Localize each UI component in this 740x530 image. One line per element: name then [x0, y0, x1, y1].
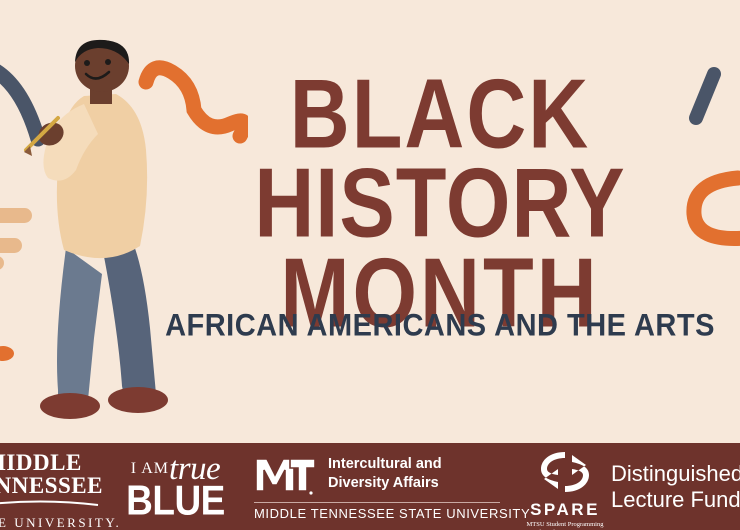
spare-logo: SPARE MTSU Student Programming and Raide… [519, 449, 611, 530]
headline-block: BLACK HISTORY MONTH [160, 72, 720, 322]
mtsu-line-state-university: STATE UNIVERSITY. [0, 515, 108, 530]
dlf-line-1: Distinguished [611, 461, 740, 487]
headline-line-black: BLACK [160, 72, 720, 156]
headline-line-history: HISTORY [160, 161, 720, 245]
spare-arrows-icon [538, 449, 592, 495]
i-am-true-blue-logo: I AMtrue BLUE [118, 453, 233, 518]
dlf-line-2: Lecture Fund [611, 487, 740, 513]
ida-university-name: MIDDLE TENNESSEE STATE UNIVERSITY [254, 506, 504, 521]
mtsu-line-tennessee: TENNESSEE [0, 474, 108, 497]
intercultural-diversity-affairs-logo: Intercultural and Diversity Affairs MIDD… [254, 451, 504, 521]
mt-block-icon [254, 451, 316, 497]
mtsu-line-middle: MIDDLE [0, 451, 108, 474]
ida-line-2: Diversity Affairs [328, 474, 442, 493]
mtsu-wordmark-logo: MIDDLE TENNESSEE STATE UNIVERSITY. [0, 451, 108, 530]
distinguished-lecture-fund-label: Distinguished Lecture Fund [611, 461, 740, 513]
spare-subtitle-1: MTSU Student Programming [519, 521, 611, 529]
true-blue-i-am: I AM [131, 460, 169, 477]
orange-dot-decoration [0, 346, 14, 361]
spare-wordmark: SPARE [519, 501, 611, 520]
true-blue-blue: BLUE [118, 482, 233, 520]
ida-line-1: Intercultural and [328, 455, 442, 474]
black-history-month-poster: BLACK HISTORY MONTH AFRICAN AMERICANS AN… [0, 0, 740, 530]
mtsu-swoosh-icon [0, 500, 99, 509]
subheadline-theme: AFRICAN AMERICANS AND THE ARTS [160, 308, 720, 344]
sponsor-footer-bar: MIDDLE TENNESSEE STATE UNIVERSITY. I AMt… [0, 443, 740, 530]
ida-divider [254, 502, 500, 503]
